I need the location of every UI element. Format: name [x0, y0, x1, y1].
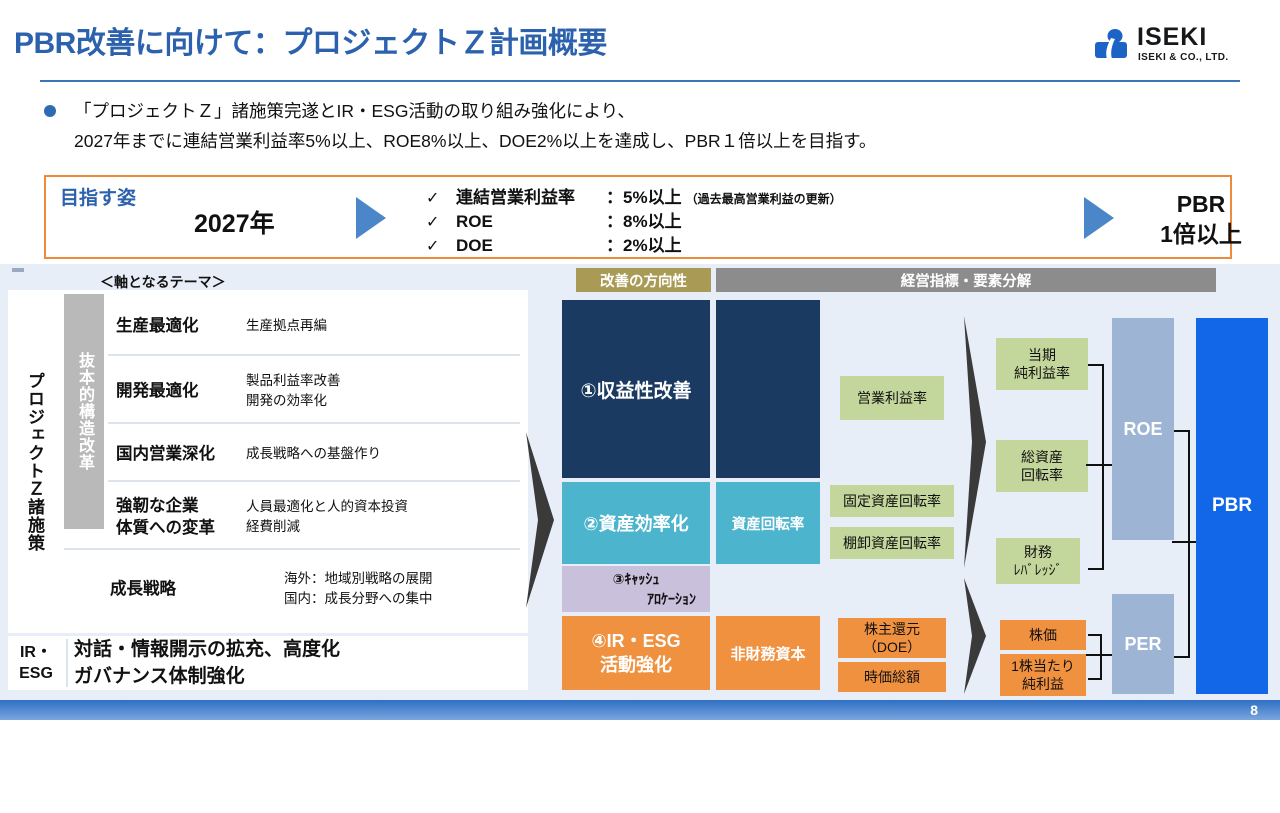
row-desc: 海外：地域別戦略の展開 国内：成長分野への集中 — [284, 569, 433, 609]
roe-factor-leverage: 財務 ﾚﾊﾞﾚｯｼﾞ — [996, 538, 1080, 584]
goal-item-name: 連結営業利益率 — [456, 183, 606, 208]
row-divider — [108, 480, 520, 482]
roe-factor-net-margin: 当期 純利益率 — [996, 338, 1088, 390]
kpi-non-financial-box: 非財務資本 — [716, 616, 820, 690]
title-divider — [40, 80, 1240, 82]
kpi-chip-operating-margin: 営業利益率 — [840, 376, 944, 420]
company-logo: ISEKI ISEKI & CO., LTD. — [1093, 24, 1258, 70]
row-desc: 成長戦略への基盤作り — [246, 444, 381, 464]
panel-tick-marker — [12, 268, 24, 272]
flow-arrow-left-icon — [524, 432, 558, 608]
table-row: 開発最適化 製品利益率改善 開発の効率化 — [108, 360, 341, 422]
aggregate-per: PER — [1112, 594, 1174, 694]
structural-reform-band: 抜本的構造改革 — [64, 294, 104, 529]
goal-result-line-1: PBR — [1136, 189, 1266, 219]
kpi-column-caption: 経営指標・要素分解 — [716, 268, 1216, 292]
ir-esg-label: IR・ ESG — [8, 642, 64, 684]
arrow-right-icon — [1084, 197, 1114, 239]
row-divider — [108, 422, 520, 424]
goal-item: ✓ ROE ：8%以上 — [426, 207, 842, 231]
row-divider — [64, 548, 520, 550]
page-title: PBR改善に向けて：プロジェクトＺ計画概要 — [14, 18, 607, 62]
row-name: 成長戦略 — [64, 578, 284, 600]
row-divider — [108, 354, 520, 356]
kpi-chip-market-cap: 時価総額 — [838, 662, 946, 692]
ir-esg-row: IR・ ESG 対話・情報開示の拡充、高度化 ガバナンス体制強化 — [8, 637, 528, 689]
row-name: 開発最適化 — [108, 380, 246, 402]
iseki-mark-icon — [1093, 28, 1131, 64]
logo-subtitle: ISEKI & CO., LTD. — [1138, 52, 1229, 63]
row-name: 生産最適化 — [108, 315, 246, 337]
table-row: 成長戦略 海外：地域別戦略の展開 国内：成長分野への集中 — [64, 556, 433, 622]
direction-block-1: ①収益性改善 — [562, 300, 710, 478]
goal-box: 目指す姿 2027年 ✓ 連結営業利益率 ：5%以上 （過去最高営業利益の更新）… — [44, 175, 1232, 259]
initiatives-vertical-label-text: プロジェクトＺ諸施策 — [24, 372, 44, 552]
goal-item-value: ：8%以上 — [606, 207, 682, 232]
direction-block-3-line1: ③ｷｬｯｼｭ — [613, 569, 660, 589]
initiatives-vertical-label: プロジェクトＺ諸施策 — [8, 290, 60, 633]
lead-paragraph: 「プロジェクトＺ」諸施策完遂とIR・ESG活動の取り組み強化により、 2027年… — [44, 96, 1254, 156]
flow-arrow-roe-icon — [962, 316, 988, 568]
direction-column-caption: 改善の方向性 — [576, 268, 711, 292]
goal-item-value: ：5%以上 — [606, 183, 682, 208]
profit-decomposition-box: 売上高 売上総利益 販管費 — [716, 300, 820, 478]
bullet-icon — [44, 105, 56, 117]
roe-factor-asset-turnover: 総資産 回転率 — [996, 440, 1088, 492]
lead-line-2: 2027年までに連結営業利益率5%以上、ROE8%以上、DOE2%以上を達成し、… — [74, 126, 1254, 156]
arrow-right-icon — [356, 197, 386, 239]
goal-result-line-2: 1倍以上 — [1136, 219, 1266, 249]
row-name: 国内営業深化 — [108, 443, 246, 465]
direction-block-4: ④IR・ESG 活動強化 — [562, 616, 710, 690]
aggregate-pbr: PBR — [1196, 318, 1268, 694]
roe-bracket-stem — [1086, 464, 1114, 466]
row-desc: 人員最適化と人的資本投資 経費削減 — [246, 497, 408, 537]
ir-esg-text: 対話・情報開示の拡充、高度化 ガバナンス体制強化 — [64, 636, 340, 690]
per-factor-share-price: 株価 — [1000, 620, 1086, 650]
logo-wordmark: ISEKI — [1137, 24, 1207, 50]
goal-item: ✓ DOE ：2%以上 — [426, 231, 842, 255]
goal-item-name: ROE — [456, 212, 606, 232]
row-desc: 製品利益率改善 開発の効率化 — [246, 371, 341, 411]
kpi-chip-shareholder-return: 株主還元 （DOE） — [838, 618, 946, 658]
direction-block-3-line2: ｱﾛｹｰｼｮﾝ — [647, 589, 710, 609]
kpi-chip-inventory-turnover: 棚卸資産回転率 — [830, 527, 954, 559]
pbr-bracket — [1174, 430, 1190, 658]
per-factor-eps: 1株当たり 純利益 — [1000, 654, 1086, 696]
theme-caption: ＜軸となるテーマ＞ — [100, 272, 226, 292]
kpi-chip-fixed-asset-turnover: 固定資産回転率 — [830, 485, 954, 517]
footer-bar — [0, 700, 1280, 720]
goal-item-value: ：2%以上 — [606, 231, 682, 256]
aggregate-roe: ROE — [1112, 318, 1174, 540]
goal-label: 目指す姿 — [60, 183, 136, 210]
lead-line-1: 「プロジェクトＺ」諸施策完遂とIR・ESG活動の取り組み強化により、 — [74, 96, 1254, 126]
goal-result: PBR 1倍以上 — [1136, 189, 1266, 249]
row-name: 強靭な企業 体質への変革 — [108, 495, 246, 539]
initiatives-table: プロジェクトＺ諸施策 抜本的構造改革 生産最適化 生産拠点再編 開発最適化 製品… — [8, 290, 528, 690]
row-desc: 生産拠点再編 — [246, 316, 327, 336]
page-number: 8 — [1250, 700, 1258, 720]
ir-esg-divider — [66, 639, 68, 687]
goal-year: 2027年 — [194, 204, 275, 240]
roe-bracket — [1088, 364, 1104, 570]
kpi-asset-turnover-box: 資産回転率 — [716, 482, 820, 564]
table-row: 生産最適化 生産拠点再編 — [108, 298, 327, 354]
goal-item-name: DOE — [456, 236, 606, 256]
slide-root: PBR改善に向けて：プロジェクトＺ計画概要 ISEKI ISEKI & CO.,… — [0, 0, 1280, 720]
table-row: 強靭な企業 体質への変革 人員最適化と人的資本投資 経費削減 — [108, 486, 408, 548]
goal-item: ✓ 連結営業利益率 ：5%以上 （過去最高営業利益の更新） — [426, 183, 842, 207]
per-bracket — [1088, 634, 1102, 680]
direction-block-3: ③ｷｬｯｼｭ ｱﾛｹｰｼｮﾝ — [562, 566, 710, 612]
direction-block-2: ②資産効率化 — [562, 482, 710, 564]
check-icon: ✓ — [426, 188, 456, 208]
goal-item-note: （過去最高営業利益の更新） — [686, 190, 842, 207]
check-icon: ✓ — [426, 236, 456, 256]
structural-reform-label: 抜本的構造改革 — [72, 352, 96, 471]
check-icon: ✓ — [426, 212, 456, 232]
flow-arrow-per-icon — [962, 578, 988, 694]
table-row: 国内営業深化 成長戦略への基盤作り — [108, 428, 381, 480]
goal-item-list: ✓ 連結営業利益率 ：5%以上 （過去最高営業利益の更新） ✓ ROE ：8%以… — [426, 183, 842, 255]
per-bracket-stem — [1086, 654, 1114, 656]
